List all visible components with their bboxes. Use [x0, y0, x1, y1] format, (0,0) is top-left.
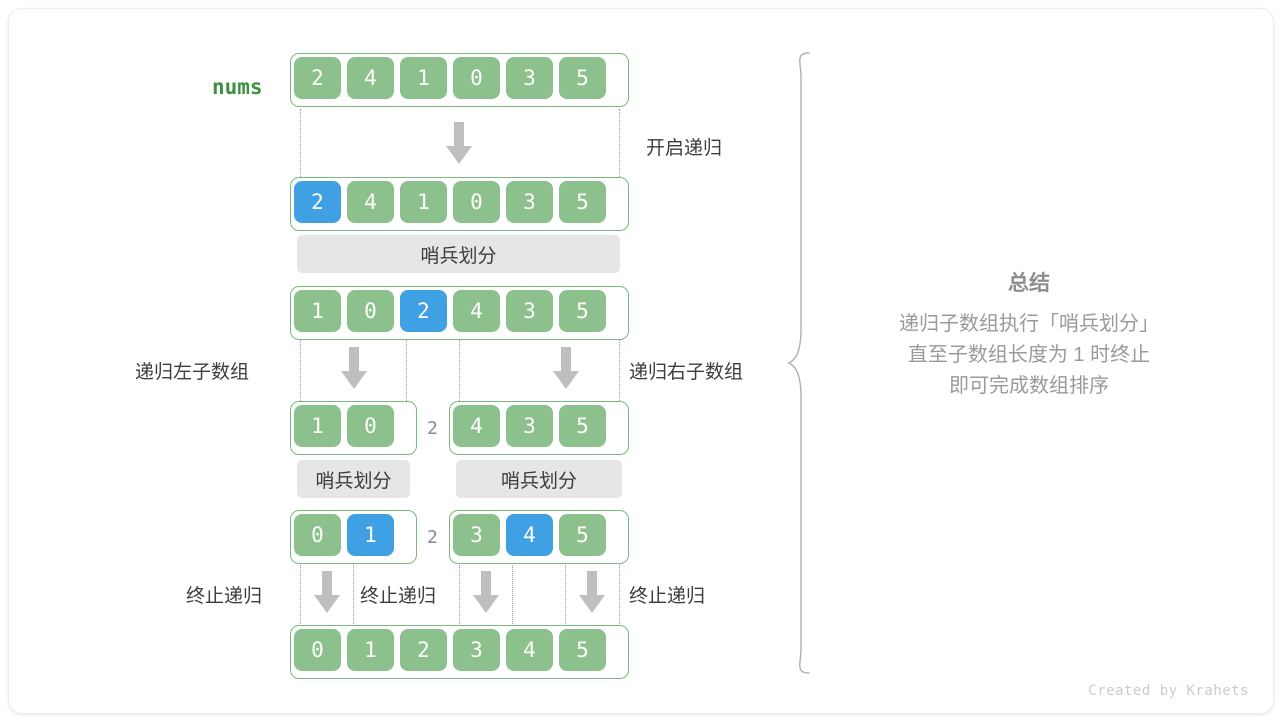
guide-line-term-d [512, 560, 513, 626]
guide-line-term-f [619, 560, 620, 626]
cell-0: 2 [294, 57, 341, 99]
cell-2: 1 [400, 57, 447, 99]
arrow-recurse-right [553, 347, 579, 387]
guide-line-split-d [619, 335, 620, 401]
label-recurse-right: 递归右子数组 [629, 357, 743, 384]
summary-line-1: 递归子数组执行「哨兵划分」 [829, 309, 1229, 340]
cell-2: 2 [400, 629, 447, 671]
cell-0: 0 [294, 514, 341, 556]
cell-4: 3 [506, 57, 553, 99]
partition-bar-left: 哨兵划分 [297, 460, 410, 498]
cell-2: 2 [400, 290, 447, 332]
guide-line-term-e [565, 560, 566, 626]
array-row-sorted: 0 1 2 3 4 5 [290, 625, 629, 679]
partition-bar-right: 哨兵划分 [456, 460, 622, 498]
credit-watermark: Created by Krahets [1088, 683, 1249, 699]
guide-line-left-full [300, 109, 301, 179]
nums-label: nums [212, 75, 263, 99]
array-row-pivot-pick: 2 4 1 0 3 5 [290, 177, 629, 231]
array-row-sub-split-right: 4 3 5 [449, 401, 629, 455]
label-terminate-1: 终止递归 [186, 581, 262, 608]
diagram-stage: nums 2 4 1 0 3 5 开启递归 2 4 1 0 3 5 哨兵划分 1 [9, 9, 1273, 713]
cell-2: 5 [559, 405, 606, 447]
arrow-terminate-3 [579, 571, 605, 611]
partition-bar-full: 哨兵划分 [297, 235, 620, 273]
cell-4: 3 [506, 290, 553, 332]
cell-5: 5 [559, 290, 606, 332]
cell-1: 3 [506, 405, 553, 447]
array-row-sub-split-left: 1 0 [290, 401, 417, 455]
arrow-recurse-left [341, 347, 367, 387]
cell-1: 4 [347, 57, 394, 99]
cell-0: 4 [453, 405, 500, 447]
cell-0: 1 [294, 405, 341, 447]
cell-1: 1 [347, 514, 394, 556]
pivot-value-partitioned: 2 [427, 527, 438, 548]
cell-3: 0 [453, 57, 500, 99]
summary-block: 总结 递归子数组执行「哨兵划分」 直至子数组长度为 1 时终止 即可完成数组排序 [829, 267, 1229, 402]
cell-0: 2 [294, 181, 341, 223]
guide-line-split-a [300, 335, 301, 401]
guide-line-term-b [353, 560, 354, 626]
diagram-card: nums 2 4 1 0 3 5 开启递归 2 4 1 0 3 5 哨兵划分 1 [8, 8, 1274, 714]
cell-1: 4 [347, 181, 394, 223]
summary-line-3: 即可完成数组排序 [829, 371, 1229, 402]
pivot-value-split: 2 [427, 418, 438, 439]
label-terminate-2: 终止递归 [360, 581, 436, 608]
summary-title: 总结 [829, 267, 1229, 297]
guide-line-split-c [459, 335, 460, 401]
cell-3: 0 [453, 181, 500, 223]
cell-1: 0 [347, 405, 394, 447]
summary-line-2: 直至子数组长度为 1 时终止 [829, 340, 1229, 371]
cell-2: 1 [400, 181, 447, 223]
cell-5: 5 [559, 57, 606, 99]
cell-1: 1 [347, 629, 394, 671]
cell-0: 1 [294, 290, 341, 332]
cell-2: 5 [559, 514, 606, 556]
arrow-terminate-1 [314, 571, 340, 611]
guide-line-split-b [406, 335, 407, 401]
cell-1: 4 [506, 514, 553, 556]
cell-4: 3 [506, 181, 553, 223]
arrow-start-recursion [446, 122, 472, 162]
guide-line-term-c [459, 560, 460, 626]
cell-4: 4 [506, 629, 553, 671]
arrow-terminate-2 [473, 571, 499, 611]
cell-1: 0 [347, 290, 394, 332]
cell-5: 5 [559, 181, 606, 223]
cell-0: 3 [453, 514, 500, 556]
summary-brace [787, 51, 823, 675]
array-row-after-partition-1: 1 0 2 4 3 5 [290, 286, 629, 340]
guide-line-right-full [619, 109, 620, 179]
cell-3: 4 [453, 290, 500, 332]
guide-line-term-a [300, 560, 301, 626]
cell-0: 0 [294, 629, 341, 671]
label-recurse-left: 递归左子数组 [135, 357, 249, 384]
array-row-sub-partitioned-left: 0 1 [290, 510, 417, 564]
label-terminate-3: 终止递归 [629, 581, 705, 608]
array-row-sub-partitioned-right: 3 4 5 [449, 510, 629, 564]
array-row-initial: 2 4 1 0 3 5 [290, 53, 629, 107]
label-start-recursion: 开启递归 [646, 133, 722, 160]
cell-5: 5 [559, 629, 606, 671]
cell-3: 3 [453, 629, 500, 671]
